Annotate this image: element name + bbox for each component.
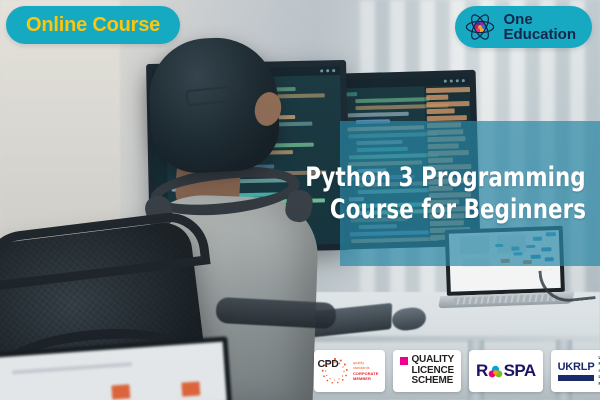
qls-square-icon: [400, 357, 408, 365]
title-overlay: Python 3 Programming Course for Beginner…: [340, 121, 600, 266]
cpd-sub-4: MEMBER: [353, 376, 378, 381]
online-course-badge: Online Course: [6, 6, 180, 44]
one-education-wordmark: One Education: [503, 12, 576, 43]
rospa-suffix: SPA: [504, 361, 536, 381]
atom-colorwheel-icon: [465, 12, 495, 42]
accreditation-badge-quality-licence-scheme: QUALITY LICENCE SCHEME: [393, 350, 461, 392]
qls-line-2: LICENCE: [411, 365, 454, 376]
one-education-logo[interactable]: One Education: [455, 6, 592, 48]
accreditation-badges: CPD quality standards CORPORATE MEMBER Q…: [314, 350, 600, 392]
course-title-line-2: Course for Beginners: [330, 194, 586, 226]
cpd-wordmark: CPD: [314, 350, 342, 378]
accreditation-badge-rospa: R SPA: [469, 350, 543, 392]
ukrlp-wordmark: UKRLP: [558, 361, 595, 373]
accreditation-badge-cpd: CPD quality standards CORPORATE MEMBER: [314, 350, 385, 392]
logo-line-2: Education: [503, 26, 576, 43]
course-title-line-1: Python 3 Programming: [306, 162, 586, 194]
course-banner: Python 3 Programming Course for Beginner…: [0, 0, 600, 400]
qls-line-3: SCHEME: [411, 375, 453, 386]
online-course-label: Online Course: [26, 14, 160, 37]
ukrlp-bar: [558, 375, 595, 381]
rospa-flower-icon: [488, 365, 503, 380]
qls-line-1: QUALITY: [411, 354, 454, 365]
rospa-prefix: R: [476, 361, 488, 381]
accreditation-badge-ukrlp: UKRLP UK Register of Learning Providers: [551, 350, 600, 392]
